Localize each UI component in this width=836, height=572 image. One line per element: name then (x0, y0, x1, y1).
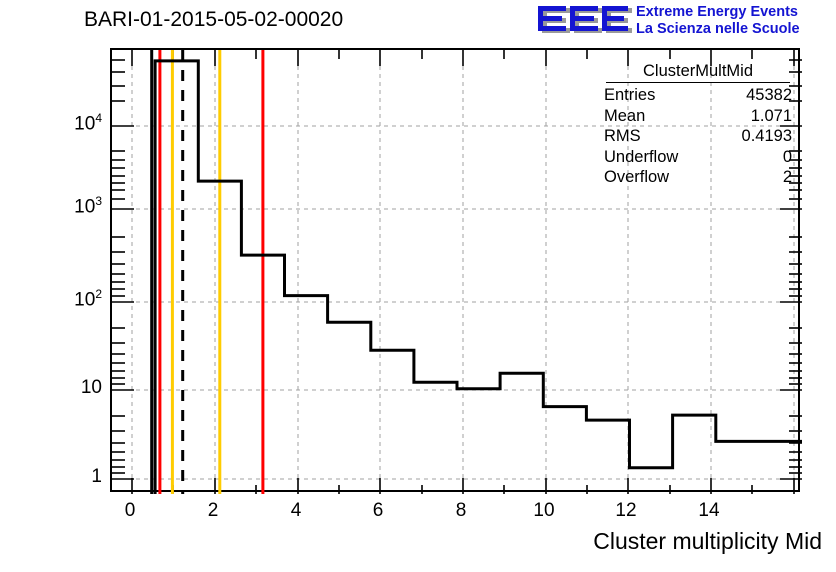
stats-row-entries: Entries 45382 (600, 85, 796, 106)
stats-value-mean: 1.071 (751, 106, 792, 127)
page-title: BARI-01-2015-05-02-00020 (84, 8, 343, 32)
x-axis-title: Cluster multiplicity Mid (593, 528, 822, 555)
x-tick-label-10: 10 (524, 500, 564, 522)
stats-key-overflow: Overflow (604, 167, 669, 188)
stats-value-underflow: 0 (783, 147, 792, 168)
y-tick-label-10: 10 (40, 377, 102, 399)
y-tick-label-10000: 104 (40, 111, 102, 135)
stats-key-mean: Mean (604, 106, 645, 127)
x-axis-ticks-bottom (132, 478, 794, 494)
eee-logo: Extreme Energy Events La Scienza nelle S… (536, 2, 836, 44)
stats-value-entries: 45382 (746, 85, 792, 106)
stats-key-underflow: Underflow (604, 147, 678, 168)
y-axis-ticks-left (112, 60, 134, 479)
stats-row-mean: Mean 1.071 (600, 106, 796, 127)
x-tick-label-8: 8 (441, 500, 481, 522)
eee-logo-text: Extreme Energy Events La Scienza nelle S… (636, 4, 800, 38)
x-tick-label-2: 2 (193, 500, 233, 522)
stats-box: ClusterMultMid Entries 45382 Mean 1.071 … (600, 62, 796, 188)
stats-row-underflow: Underflow 0 (600, 147, 796, 168)
x-tick-label-12: 12 (606, 500, 646, 522)
x-tick-label-4: 4 (276, 500, 316, 522)
stats-row-rms: RMS 0.4193 (600, 126, 796, 147)
stats-key-rms: RMS (604, 126, 641, 147)
y-tick-label-1: 1 (40, 466, 102, 488)
eee-logo-line1: Extreme Energy Events (636, 4, 800, 21)
y-tick-label-1000: 103 (40, 194, 102, 218)
x-tick-label-14: 14 (689, 500, 729, 522)
x-tick-label-0: 0 (110, 500, 150, 522)
eee-logo-line2: La Scienza nelle Scuole (636, 21, 800, 38)
stats-value-rms: 0.4193 (742, 126, 792, 147)
y-tick-label-100: 102 (40, 287, 102, 311)
stats-key-entries: Entries (604, 85, 655, 106)
stats-value-overflow: 2 (783, 167, 792, 188)
eee-logo-mark-icon (536, 4, 632, 40)
x-tick-label-6: 6 (358, 500, 398, 522)
cut-markers (152, 50, 263, 494)
stats-title: ClusterMultMid (606, 62, 790, 83)
root-canvas: BARI-01-2015-05-02-00020 Extreme Energy … (0, 0, 836, 572)
stats-row-overflow: Overflow 2 (600, 167, 796, 188)
